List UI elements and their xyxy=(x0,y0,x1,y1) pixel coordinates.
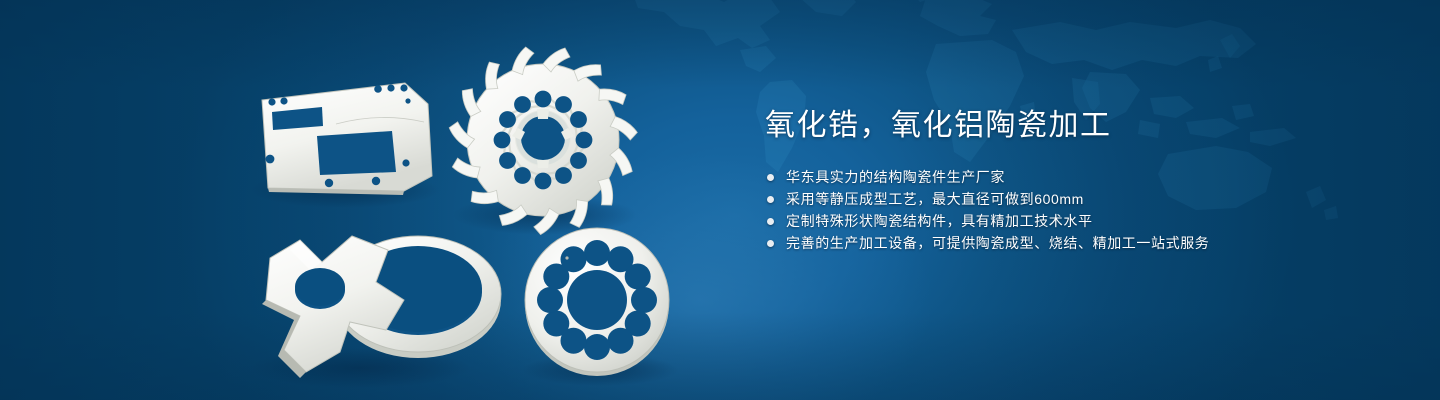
ceramic-perforated-disc-shape xyxy=(525,228,669,376)
list-item: 定制特殊形状陶瓷结构件，具有精加工技术水平 xyxy=(765,210,1385,232)
list-item: 华东具实力的结构陶瓷件生产厂家 xyxy=(765,166,1385,188)
hero-banner: 氧化锆，氧化铝陶瓷加工 华东具实力的结构陶瓷件生产厂家 采用等静压成型工艺，最大… xyxy=(0,0,1440,400)
banner-copy: 氧化锆，氧化铝陶瓷加工 华东具实力的结构陶瓷件生产厂家 采用等静压成型工艺，最大… xyxy=(765,104,1385,254)
bullet-dot-icon xyxy=(767,218,774,225)
bullet-dot-icon xyxy=(767,174,774,181)
list-item-label: 定制特殊形状陶瓷结构件，具有精加工技术水平 xyxy=(786,210,1093,232)
list-item: 完善的生产加工设备，可提供陶瓷成型、烧结、精加工一站式服务 xyxy=(765,232,1385,254)
ceramic-plate-shape xyxy=(262,83,432,195)
list-item: 采用等静压成型工艺，最大直径可做到600mm xyxy=(765,188,1385,210)
list-item-label: 华东具实力的结构陶瓷件生产厂家 xyxy=(786,166,1005,188)
ceramic-parts-artwork xyxy=(0,0,720,400)
list-item-label: 采用等静压成型工艺，最大直径可做到600mm xyxy=(786,188,1084,210)
bullet-dot-icon xyxy=(767,240,774,247)
page-title: 氧化锆，氧化铝陶瓷加工 xyxy=(765,104,1385,148)
feature-list: 华东具实力的结构陶瓷件生产厂家 采用等静压成型工艺，最大直径可做到600mm 定… xyxy=(765,166,1385,254)
list-item-label: 完善的生产加工设备，可提供陶瓷成型、烧结、精加工一站式服务 xyxy=(786,232,1209,254)
bullet-dot-icon xyxy=(767,196,774,203)
